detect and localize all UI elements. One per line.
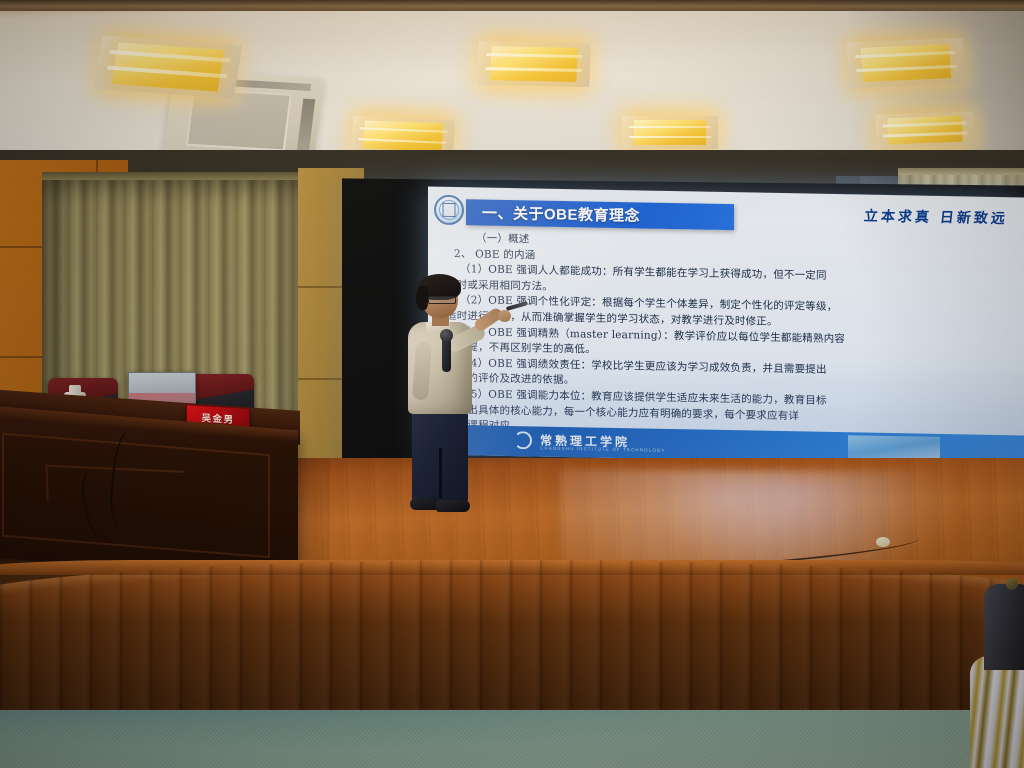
stage-front-edge — [0, 560, 1024, 710]
lecture-hall-photo: 一、关于OBE教育理念 立本求真 日新致远 （一）概述 2、 OBE 的内涵 （… — [0, 0, 1024, 768]
ceiling-light-panel — [477, 41, 591, 87]
presenter-leg-gap — [439, 448, 442, 500]
presenter-hand — [498, 310, 511, 322]
institution-logo-icon — [514, 431, 532, 449]
head-table — [0, 406, 298, 583]
slide-body: （一）概述 2、 OBE 的内涵 （1）OBE 强调人人都能成功：所有学生都能在… — [446, 231, 1016, 444]
ceiling-light-panel — [94, 35, 243, 99]
slide-title-bar: 一、关于OBE教育理念 — [466, 199, 734, 230]
university-emblem-icon — [434, 195, 464, 226]
presentation-screen: 一、关于OBE教育理念 立本求真 日新致远 （一）概述 2、 OBE 的内涵 （… — [428, 187, 1024, 466]
decorative-vase — [950, 584, 1024, 768]
ceiling-light-panel — [846, 38, 965, 89]
cable-connector — [876, 537, 890, 547]
curtain-rail-right — [898, 168, 1024, 175]
microphone-icon — [442, 336, 451, 372]
ceiling-light-panel — [875, 111, 975, 148]
ac-intake-grille — [186, 88, 292, 151]
curtain-rail-left — [42, 172, 310, 180]
ceiling-light-panel — [622, 116, 718, 149]
presenter-shoe — [436, 500, 470, 512]
institution-name-en: CHANGSHU INSTITUTE OF TECHNOLOGY — [540, 446, 666, 453]
presenter-hair-side — [416, 286, 428, 310]
slide-motto: 立本求真 日新致远 — [863, 206, 1009, 229]
ac-vent-side — [297, 99, 315, 151]
presenter — [392, 278, 484, 518]
glasses-icon — [428, 296, 456, 304]
slide-title: 一、关于OBE教育理念 — [482, 202, 640, 226]
